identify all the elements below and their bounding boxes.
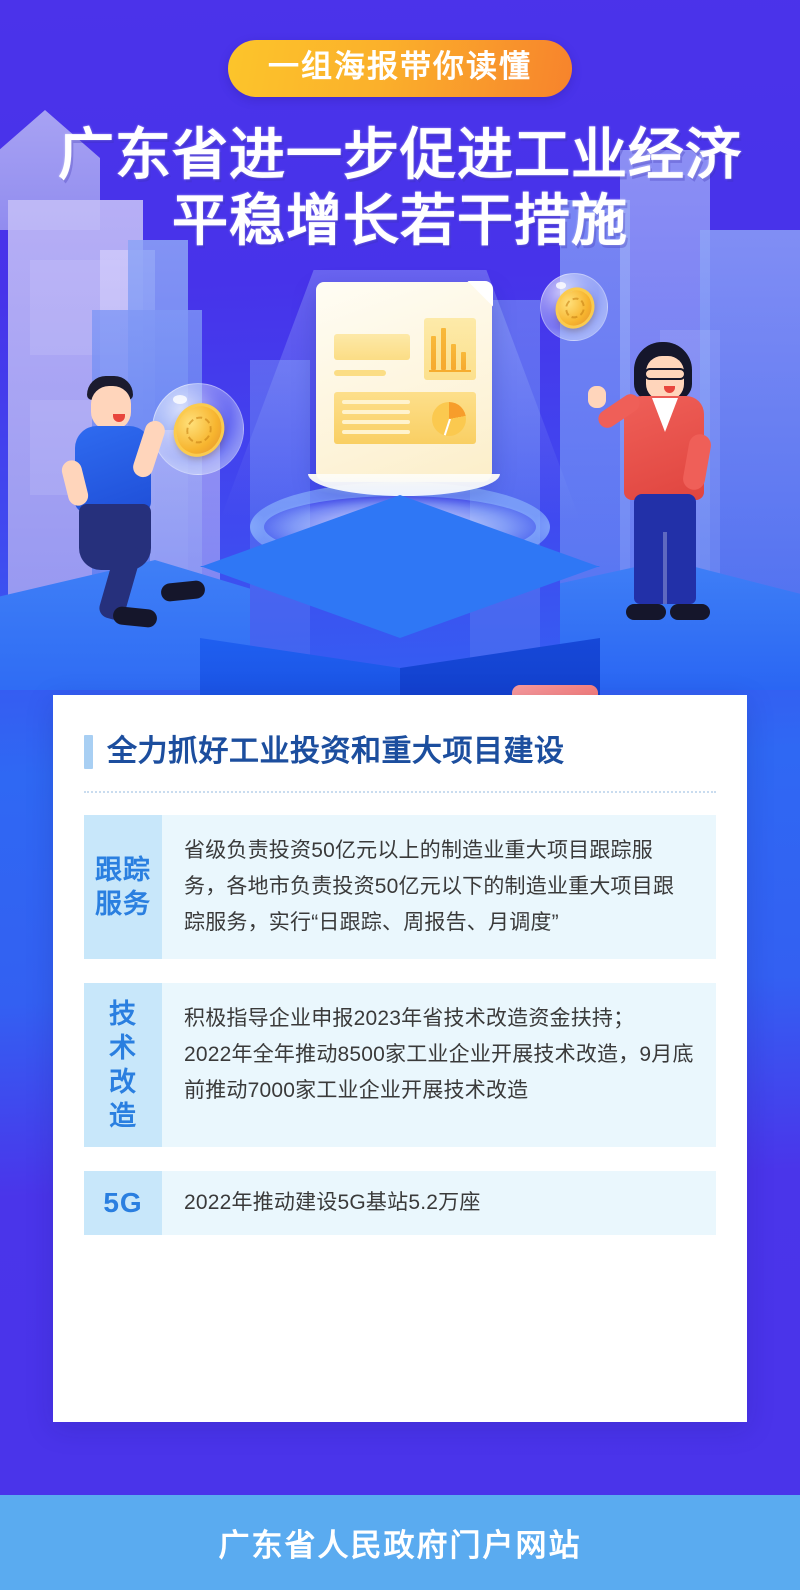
woman-pants-split (663, 532, 667, 604)
row-label-text: 5G (103, 1186, 142, 1220)
row-body: 积极指导企业申报2023年省技术改造资金扶持； 2022年全年推动8500家工业… (162, 983, 716, 1147)
glasses-icon (644, 368, 686, 380)
list-item: 跟踪服务 省级负责投资50亿元以上的制造业重大项目跟踪服务，各地市负责投资50亿… (84, 815, 716, 959)
content-card: 全力抓好工业投资和重大项目建设 跟踪服务 省级负责投资50亿元以上的制造业重大项… (53, 695, 747, 1422)
card-heading: 全力抓好工业投资和重大项目建设 (53, 695, 747, 769)
row-label: 5G (84, 1171, 162, 1235)
row-paragraph: 省级负责投资50亿元以上的制造业重大项目跟踪服务，各地市负责投资50亿元以下的制… (184, 833, 694, 941)
doc-panel (334, 392, 476, 444)
woman-shoe (626, 604, 666, 620)
title-line-1: 广东省进一步促进工业经济 (0, 122, 800, 188)
woman-pointing-illustration (590, 342, 740, 627)
woman-shoe (670, 604, 710, 620)
report-document-icon (316, 282, 492, 482)
row-paragraph: 积极指导企业申报2023年省技术改造资金扶持； (184, 1001, 694, 1037)
coin-in-bubble-icon (540, 273, 608, 341)
row-body: 2022年推动建设5G基站5.2万座 (162, 1171, 716, 1235)
footer-bar: 广东省人民政府门户网站 (0, 1495, 800, 1590)
row-label: 跟踪服务 (84, 815, 162, 959)
man-shoe (112, 606, 158, 629)
woman-hand-pointing (588, 386, 606, 408)
list-item: 5G 2022年推动建设5G基站5.2万座 (84, 1171, 716, 1235)
pie-chart-icon (432, 402, 466, 436)
footer-text: 广东省人民政府门户网站 (219, 1520, 582, 1565)
poster-root: 一组海报带你读懂 广东省进一步促进工业经济 平稳增长若干措施 (0, 0, 800, 1590)
row-body: 省级负责投资50亿元以上的制造业重大项目跟踪服务，各地市负责投资50亿元以下的制… (162, 815, 716, 959)
bar-chart-icon (424, 318, 476, 380)
page-curl (467, 281, 493, 307)
row-paragraph: 2022年全年推动8500家工业企业开展技术改造，9月底前推动7000家工业企业… (184, 1037, 694, 1109)
man-sitting-illustration (55, 368, 215, 628)
cube-platform-top-lower (200, 566, 600, 638)
title-line-2: 平稳增长若干措施 (0, 188, 800, 254)
man-head (91, 386, 131, 430)
row-label: 技术改造 (84, 983, 162, 1147)
list-item: 技术改造 积极指导企业申报2023年省技术改造资金扶持； 2022年全年推动85… (84, 983, 716, 1147)
doc-subline (334, 370, 386, 376)
badge-pill: 一组海报带你读懂 (228, 40, 572, 97)
doc-heading-block (334, 334, 410, 360)
heading-accent-bar (84, 735, 93, 769)
row-paragraph: 2022年推动建设5G基站5.2万座 (184, 1185, 694, 1221)
heading-text: 全力抓好工业投资和重大项目建设 (107, 737, 565, 767)
man-shoe (160, 580, 206, 603)
row-label-text: 跟踪服务 (93, 853, 152, 921)
coin-icon (552, 282, 598, 334)
hero-illustration (0, 250, 800, 690)
cube-platform-top (200, 495, 600, 567)
page-title: 广东省进一步促进工业经济 平稳增长若干措施 (0, 122, 800, 254)
measures-list: 跟踪服务 省级负责投资50亿元以上的制造业重大项目跟踪服务，各地市负责投资50亿… (53, 793, 747, 1235)
row-label-text: 技术改造 (108, 997, 138, 1133)
